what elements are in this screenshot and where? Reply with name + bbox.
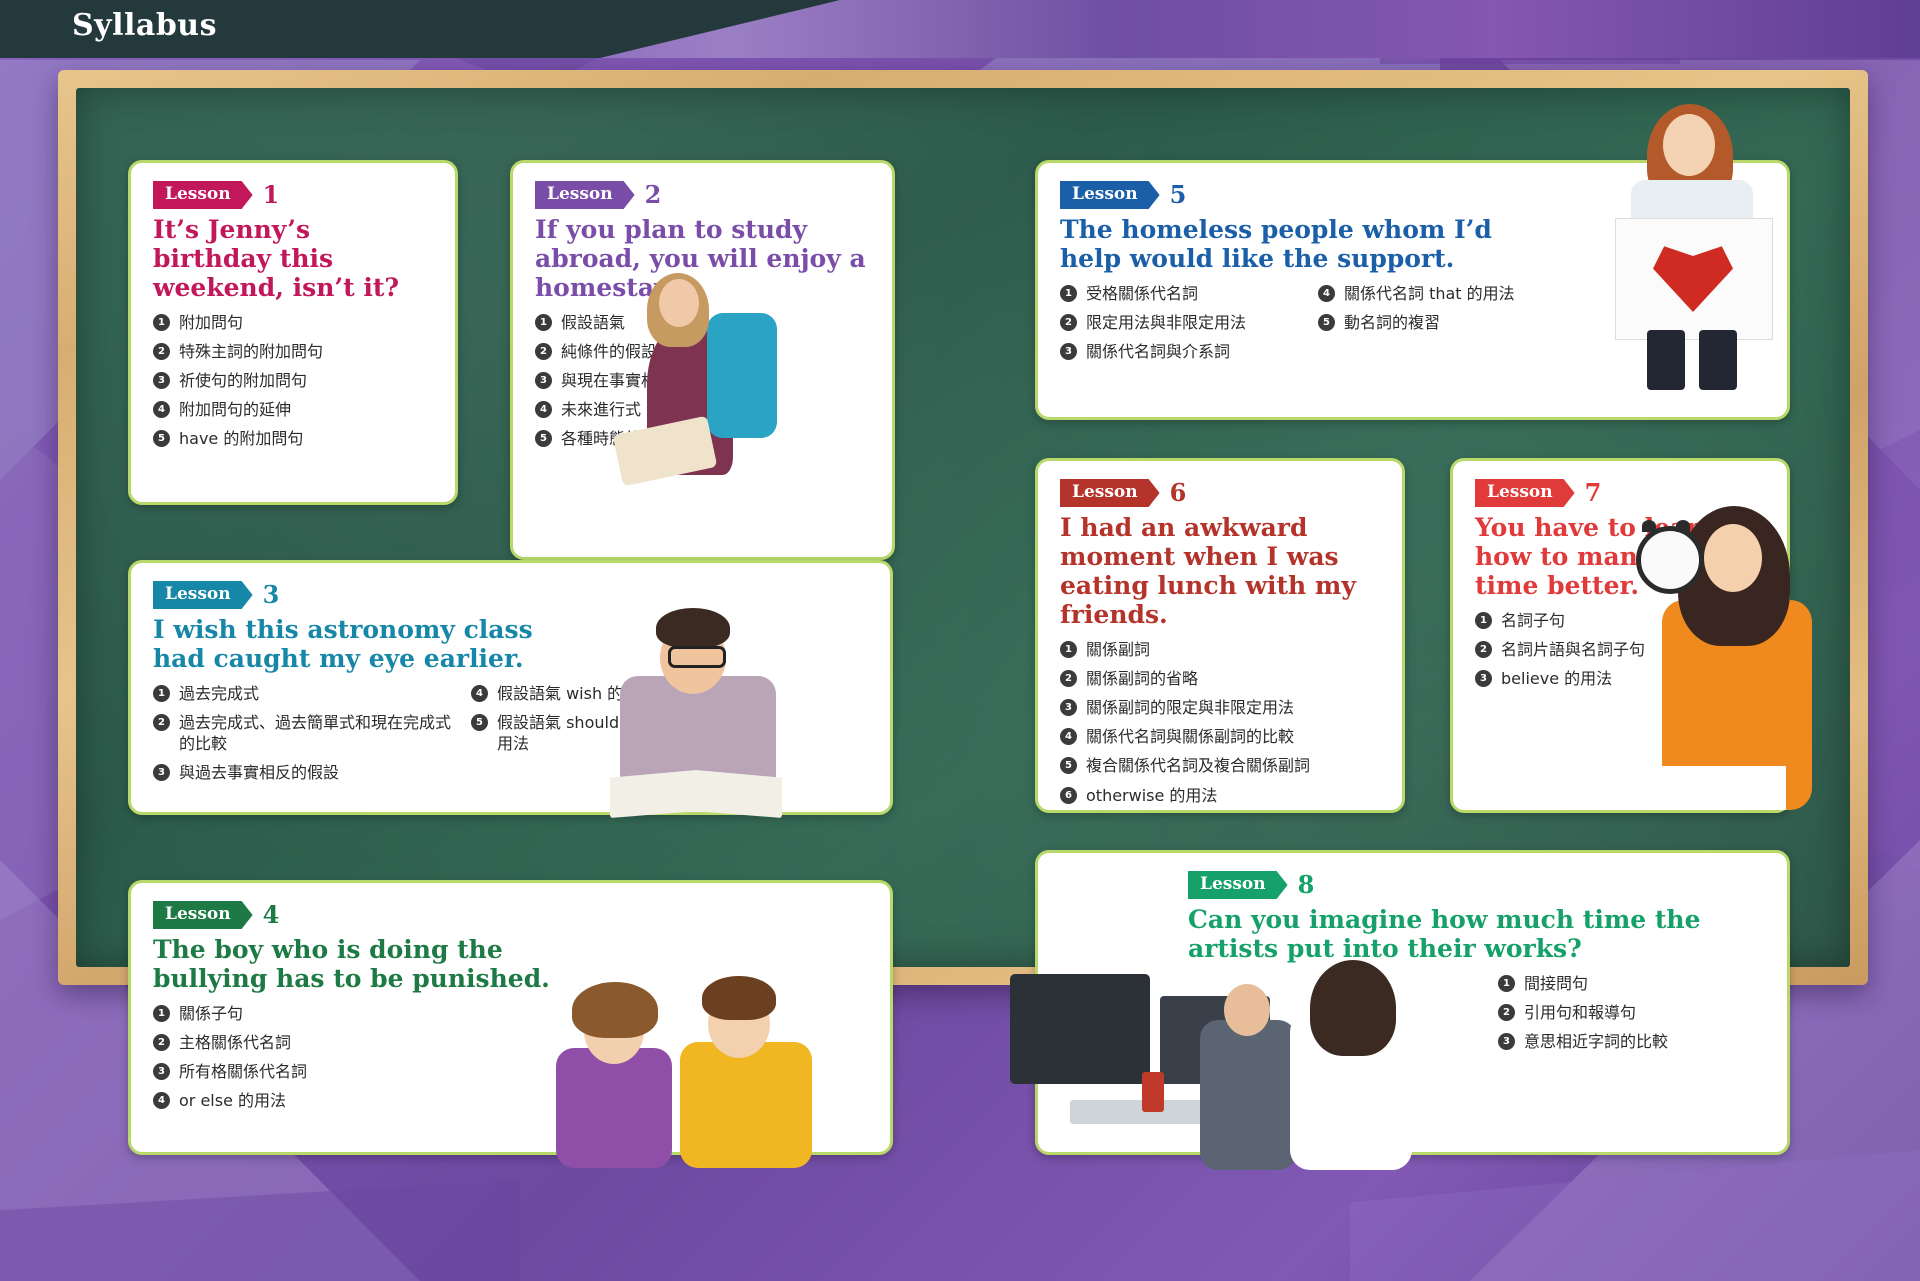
item-text: 關係副詞: [1086, 640, 1150, 659]
lesson-title-7: You have to learn how to manage your tim…: [1475, 513, 1765, 600]
item-text: 附加問句: [179, 313, 243, 332]
list-item: 5動名詞的複習: [1318, 312, 1568, 333]
list-item: 4未來進行式: [535, 399, 870, 420]
lesson-card-1[interactable]: Lesson 1 It’s Jenny’s birthday this week…: [128, 160, 458, 505]
item-text: 假設語氣 wish 的用法: [497, 684, 655, 703]
lesson-card-2[interactable]: Lesson 2 If you plan to study abroad, yo…: [510, 160, 895, 560]
item-text: 過去完成式: [179, 684, 259, 703]
lesson-badge-row-7: Lesson 7: [1475, 479, 1765, 507]
item-bullet-number: 3: [153, 764, 170, 781]
item-bullet-number: 1: [153, 314, 170, 331]
item-bullet-number: 3: [535, 372, 552, 389]
lesson-number-5: 5: [1170, 183, 1187, 207]
item-text: 名詞片語與名詞子句: [1501, 640, 1645, 659]
list-item: 2特殊主詞的附加問句: [153, 341, 433, 362]
item-bullet-number: 2: [153, 1034, 170, 1051]
item-text: 名詞子句: [1501, 611, 1565, 630]
item-text: 祈使句的附加問句: [179, 371, 307, 390]
item-bullet-number: 1: [153, 685, 170, 702]
item-bullet-number: 5: [535, 430, 552, 447]
list-item: 3與現在事實相反的假設: [535, 370, 870, 391]
lesson-items-3-right: 4假設語氣 wish 的用法 5假設語氣 should have 的用法: [471, 683, 691, 791]
lesson-card-8[interactable]: Lesson 8 Can you imagine how much time t…: [1035, 850, 1790, 1155]
item-text: 特殊主詞的附加問句: [179, 342, 323, 361]
item-text: 與現在事實相反的假設: [561, 371, 721, 390]
lesson-badge-8: Lesson: [1188, 871, 1288, 899]
lesson-number-6: 6: [1170, 481, 1187, 505]
lesson-card-4[interactable]: Lesson 4 The boy who is doing the bullyi…: [128, 880, 893, 1155]
lesson-badge-4: Lesson: [153, 901, 253, 929]
item-bullet-number: 1: [1060, 641, 1077, 658]
item-bullet-number: 1: [535, 314, 552, 331]
item-text: 附加問句的延伸: [179, 400, 291, 419]
item-bullet-number: 5: [1318, 314, 1335, 331]
list-item: 4附加問句的延伸: [153, 399, 433, 420]
item-text: 動名詞的複習: [1344, 313, 1440, 332]
list-item: 1受格關係代名詞: [1060, 283, 1300, 304]
item-bullet-number: 1: [1498, 975, 1515, 992]
lesson-items-3-left: 1過去完成式 2過去完成式、過去簡單式和現在完成式的比較 3與過去事實相反的假設: [153, 683, 453, 791]
lesson-number-1: 1: [263, 183, 280, 207]
lesson-badge-row-5: Lesson 5: [1060, 181, 1765, 209]
lesson-card-3[interactable]: Lesson 3 I wish this astronomy class had…: [128, 560, 893, 815]
item-bullet-number: 3: [153, 1063, 170, 1080]
item-text: 主格關係代名詞: [179, 1033, 291, 1052]
item-text: 所有格關係代名詞: [179, 1062, 307, 1081]
item-bullet-number: 2: [535, 343, 552, 360]
item-text: or else 的用法: [179, 1091, 286, 1110]
page-header: Syllabus: [0, 0, 1920, 60]
list-item: 4關係代名詞與關係副詞的比較: [1060, 726, 1380, 747]
lesson-badge-row-1: Lesson 1: [153, 181, 433, 209]
item-text: 各種時態的進行式: [561, 429, 689, 448]
item-bullet-number: 4: [1318, 285, 1335, 302]
item-text: 意思相近字詞的比較: [1524, 1032, 1668, 1051]
lesson-badge-5: Lesson: [1060, 181, 1160, 209]
list-item: 5have 的附加問句: [153, 428, 433, 449]
list-item: 5各種時態的進行式: [535, 428, 870, 449]
item-text: 假設語氣 should have 的用法: [497, 713, 685, 753]
lesson-number-3: 3: [263, 583, 280, 607]
lesson-items-1: 1附加問句 2特殊主詞的附加問句 3祈使句的附加問句 4附加問句的延伸 5hav…: [153, 312, 433, 450]
item-bullet-number: 4: [535, 401, 552, 418]
item-bullet-number: 3: [1475, 670, 1492, 687]
lesson-badge-6: Lesson: [1060, 479, 1160, 507]
lesson-title-1: It’s Jenny’s birthday this weekend, isn’…: [153, 215, 433, 302]
item-text: 引用句和報導句: [1524, 1003, 1636, 1022]
lesson-number-7: 7: [1585, 481, 1602, 505]
lesson-number-8: 8: [1298, 873, 1315, 897]
item-bullet-number: 2: [153, 714, 170, 731]
item-bullet-number: 5: [1060, 757, 1077, 774]
lesson-badge-1: Lesson: [153, 181, 253, 209]
list-item: 2限定用法與非限定用法: [1060, 312, 1300, 333]
lesson-card-5[interactable]: Lesson 5 The homeless people whom I’d he…: [1035, 160, 1790, 420]
lesson-title-2: If you plan to study abroad, you will en…: [535, 215, 870, 302]
lesson-title-8: Can you imagine how much time the artist…: [1188, 905, 1765, 963]
lesson-badge-row-8: Lesson 8: [1188, 871, 1765, 899]
lesson-card-6[interactable]: Lesson 6 I had an awkward moment when I …: [1035, 458, 1405, 813]
item-text: 純條件的假設: [561, 342, 657, 361]
lesson-items-5-right: 4關係代名詞 that 的用法 5動名詞的複習: [1318, 283, 1568, 370]
list-item: 1關係副詞: [1060, 639, 1380, 660]
list-item: 3所有格關係代名詞: [153, 1061, 513, 1082]
lesson-title-3: I wish this astronomy class had caught m…: [153, 615, 573, 673]
list-item: 2名詞片語與名詞子句: [1475, 639, 1690, 660]
item-text: 過去完成式、過去簡單式和現在完成式的比較: [179, 713, 451, 753]
item-bullet-number: 3: [1060, 343, 1077, 360]
list-item: 3關係副詞的限定與非限定用法: [1060, 697, 1380, 718]
lesson-items-8: 1間接問句 2引用句和報導句 3意思相近字詞的比較: [1498, 973, 1748, 1052]
item-text: have 的附加問句: [179, 429, 303, 448]
item-text: 關係代名詞與關係副詞的比較: [1086, 727, 1294, 746]
item-bullet-number: 4: [153, 401, 170, 418]
list-item: 2主格關係代名詞: [153, 1032, 513, 1053]
lesson-badge-7: Lesson: [1475, 479, 1575, 507]
list-item: 3意思相近字詞的比較: [1498, 1031, 1748, 1052]
lesson-badge-row-3: Lesson 3: [153, 581, 868, 609]
lesson-card-7[interactable]: Lesson 7 You have to learn how to manage…: [1450, 458, 1790, 813]
lesson-title-5: The homeless people whom I’d help would …: [1060, 215, 1540, 273]
item-bullet-number: 3: [1060, 699, 1077, 716]
item-bullet-number: 2: [1498, 1004, 1515, 1021]
list-item: 5假設語氣 should have 的用法: [471, 712, 691, 754]
lesson-items-2: 1假設語氣 2純條件的假設 3與現在事實相反的假設 4未來進行式 5各種時態的進…: [535, 312, 870, 450]
item-bullet-number: 2: [1475, 641, 1492, 658]
item-bullet-number: 3: [1498, 1033, 1515, 1050]
item-bullet-number: 5: [471, 714, 488, 731]
list-item: 1名詞子句: [1475, 610, 1690, 631]
item-bullet-number: 2: [1060, 670, 1077, 687]
lesson-badge-3: Lesson: [153, 581, 253, 609]
item-bullet-number: 6: [1060, 787, 1077, 804]
lesson-badge-2: Lesson: [535, 181, 635, 209]
lesson-items-3: 1過去完成式 2過去完成式、過去簡單式和現在完成式的比較 3與過去事實相反的假設…: [153, 683, 868, 791]
list-item: 1關係子句: [153, 1003, 513, 1024]
item-text: 關係副詞的省略: [1086, 669, 1198, 688]
item-text: 關係代名詞 that 的用法: [1344, 284, 1515, 303]
list-item: 1間接問句: [1498, 973, 1748, 994]
item-text: 與過去事實相反的假設: [179, 763, 339, 782]
item-text: believe 的用法: [1501, 669, 1612, 688]
item-text: 受格關係代名詞: [1086, 284, 1198, 303]
item-bullet-number: 1: [1475, 612, 1492, 629]
list-item: 6otherwise 的用法: [1060, 785, 1380, 806]
list-item: 1過去完成式: [153, 683, 453, 704]
item-text: 複合關係代名詞及複合關係副詞: [1086, 756, 1310, 775]
item-text: 間接問句: [1524, 974, 1588, 993]
item-text: 未來進行式: [561, 400, 641, 419]
lesson-title-4: The boy who is doing the bullying has to…: [153, 935, 553, 993]
lesson-badge-row-4: Lesson 4: [153, 901, 868, 929]
item-text: 關係代名詞與介系詞: [1086, 342, 1230, 361]
list-item: 1假設語氣: [535, 312, 870, 333]
item-text: otherwise 的用法: [1086, 786, 1217, 805]
lesson-items-6: 1關係副詞 2關係副詞的省略 3關係副詞的限定與非限定用法 4關係代名詞與關係副…: [1060, 639, 1380, 806]
lesson-items-5: 1受格關係代名詞 2限定用法與非限定用法 3關係代名詞與介系詞 4關係代名詞 t…: [1060, 283, 1765, 370]
list-item: 3believe 的用法: [1475, 668, 1690, 689]
list-item: 4or else 的用法: [153, 1090, 513, 1111]
item-bullet-number: 5: [153, 430, 170, 447]
list-item: 4關係代名詞 that 的用法: [1318, 283, 1568, 304]
lesson-items-5-left: 1受格關係代名詞 2限定用法與非限定用法 3關係代名詞與介系詞: [1060, 283, 1300, 370]
list-item: 3祈使句的附加問句: [153, 370, 433, 391]
item-bullet-number: 2: [153, 343, 170, 360]
item-bullet-number: 1: [153, 1005, 170, 1022]
item-bullet-number: 1: [1060, 285, 1077, 302]
list-item: 5複合關係代名詞及複合關係副詞: [1060, 755, 1380, 776]
list-item: 4假設語氣 wish 的用法: [471, 683, 691, 704]
item-text: 關係副詞的限定與非限定用法: [1086, 698, 1294, 717]
lesson-badge-row-2: Lesson 2: [535, 181, 870, 209]
item-bullet-number: 2: [1060, 314, 1077, 331]
item-text: 關係子句: [179, 1004, 243, 1023]
item-bullet-number: 4: [1060, 728, 1077, 745]
item-bullet-number: 3: [153, 372, 170, 389]
list-item: 1附加問句: [153, 312, 433, 333]
item-bullet-number: 4: [153, 1092, 170, 1109]
page-title: Syllabus: [72, 8, 217, 43]
lesson-items-7: 1名詞子句 2名詞片語與名詞子句 3believe 的用法: [1475, 610, 1690, 689]
list-item: 2關係副詞的省略: [1060, 668, 1380, 689]
list-item: 2過去完成式、過去簡單式和現在完成式的比較: [153, 712, 453, 754]
lesson-badge-row-6: Lesson 6: [1060, 479, 1380, 507]
item-text: 假設語氣: [561, 313, 625, 332]
item-text: 限定用法與非限定用法: [1086, 313, 1246, 332]
lesson-items-4: 1關係子句 2主格關係代名詞 3所有格關係代名詞 4or else 的用法: [153, 1003, 513, 1111]
list-item: 3與過去事實相反的假設: [153, 762, 453, 783]
lesson-number-4: 4: [263, 903, 280, 927]
list-item: 2引用句和報導句: [1498, 1002, 1748, 1023]
lesson-number-2: 2: [645, 183, 662, 207]
lesson-title-6: I had an awkward moment when I was eatin…: [1060, 513, 1380, 629]
list-item: 2純條件的假設: [535, 341, 870, 362]
list-item: 3關係代名詞與介系詞: [1060, 341, 1300, 362]
item-bullet-number: 4: [471, 685, 488, 702]
